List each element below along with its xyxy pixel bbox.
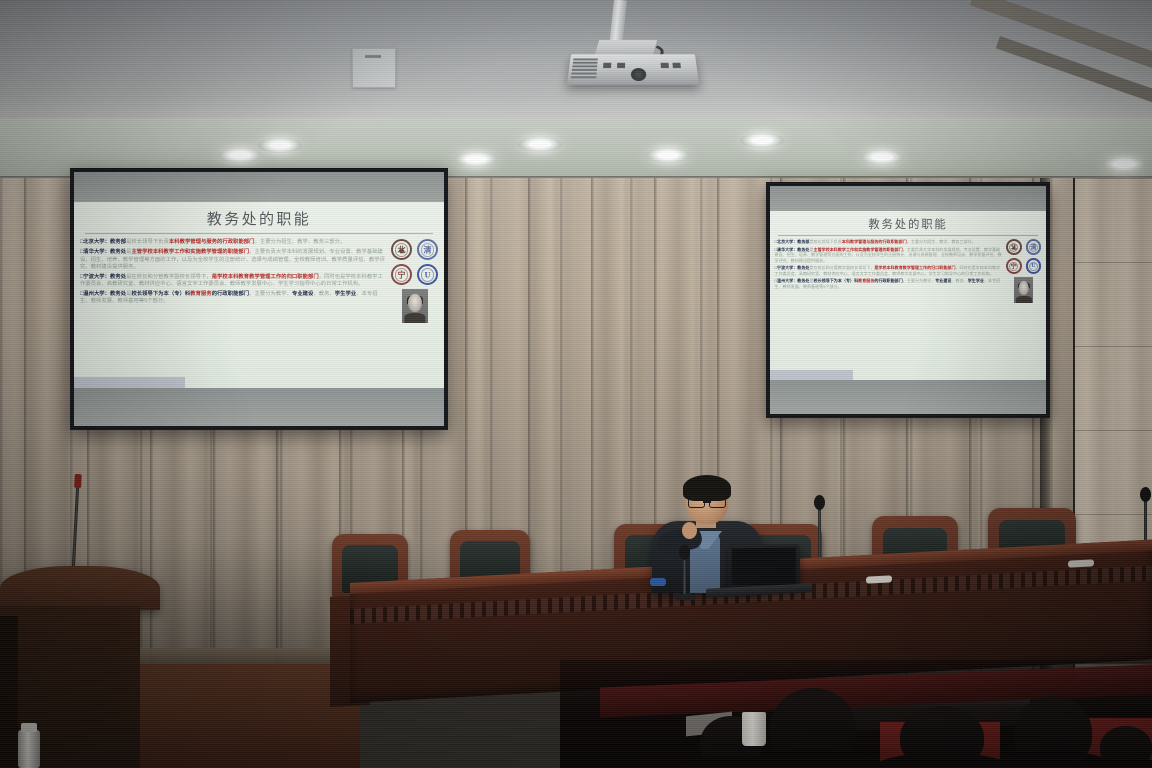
downlight-icon [258,138,302,153]
seal-glyph: 宁 [1011,262,1017,271]
screen-band-bottom [74,388,444,426]
wenzhou-university-seal: U [417,264,438,285]
slide-paragraph: □北京大学：教务部是校长领导下负责本科教学管理与服务的行政职能部门。主要分为招生… [80,239,387,246]
slide-paragraph: □清华大学：教务处是主管学校本科教学工作和实施教学管理的职能部门。主要负责大学本… [775,247,1003,263]
logo-row: 北清 [391,239,438,260]
laptop-screen [732,548,796,586]
seal-glyph: U [1031,263,1035,269]
portrait-photo [1014,277,1034,303]
slide-right: 教务处的职能 □北京大学：教务部是校长领导下负责本科教学管理与服务的行政职能部门… [770,211,1046,380]
slide-paragraph: □温州大学：教务处是校长领导下为本（专）科教育服务的行政职能部门。主要分为教学、… [80,291,387,305]
downlight-icon [1102,157,1146,172]
slide-paragraph: □宁波大学：教务处是在校长和分管教学副校长领导下，是学校本科教育教学管理工作的归… [775,265,1003,276]
logo-row: 宁U [391,264,438,285]
paper-cup [742,712,766,746]
projector-vent-icon [571,58,598,78]
downlight-icon [218,148,262,163]
screen-band-bottom [770,380,1046,414]
slide-left: 教务处的职能 □北京大学：教务部是校长领导下负责本科教学管理与服务的行政职能部门… [74,202,444,387]
ningbo-university-seal: 宁 [1006,258,1022,274]
slide-paragraph: □清华大学：教务处是主管学校本科教学工作和实施教学管理的职能部门。主要负责大学本… [80,249,387,270]
slide-text-column: □北京大学：教务部是校长领导下负责本科教学管理与服务的行政职能部门。主要分为招生… [80,239,387,323]
seal-glyph: 北 [398,244,406,255]
slide-paragraph: □北京大学：教务部是校长领导下负责本科教学管理与服务的行政职能部门。主要分为招生… [775,239,1003,244]
audience-head [1014,696,1092,768]
water-bottle [18,730,40,768]
logo-row: 北清 [1006,239,1042,255]
seal-glyph: 北 [1011,243,1017,252]
slide-paragraph: □温州大学：教务处是校长领导下为本（专）科教育服务的行政职能部门。主要分为教学、… [775,278,1003,289]
slide-title: 教务处的职能 [74,202,444,233]
slide-paragraph: □宁波大学：教务处是在校长和分管教学副校长领导下，是学校本科教育教学管理工作的归… [80,274,387,288]
slide-footer-strip [770,370,853,380]
tsinghua-university-seal: 清 [1026,239,1042,255]
desk-object-blue [650,578,666,586]
handheld-microphone [683,556,686,596]
portrait-body [404,313,425,323]
audience-head [900,706,984,768]
portrait-photo [402,289,428,323]
peking-university-seal: 北 [1006,239,1022,255]
screen-surface: 教务处的职能 □北京大学：教务部是校长领导下负责本科教学管理与服务的行政职能部门… [74,172,444,426]
slide-title: 教务处的职能 [770,211,1046,235]
slide-body: □北京大学：教务部是校长领导下负责本科教学管理与服务的行政职能部门。主要分为招生… [74,234,444,328]
left-projection-screen[interactable]: 教务处的职能 □北京大学：教务部是校长领导下负责本科教学管理与服务的行政职能部门… [70,168,448,430]
projector-lens-icon [631,68,646,81]
right-projection-screen[interactable]: 教务处的职能 □北京大学：教务部是校长领导下负责本科教学管理与服务的行政职能部门… [766,182,1050,418]
projector-port [672,63,680,68]
lecture-hall-scene: 教务处的职能 □北京大学：教务部是校长领导下负责本科教学管理与服务的行政职能部门… [0,0,1152,768]
portrait-face [1018,281,1029,295]
screen-surface: 教务处的职能 □北京大学：教务部是校长领导下负责本科教学管理与服务的行政职能部门… [770,186,1046,414]
slide-footer-strip [74,377,185,388]
microphone-base [674,594,696,600]
projector-port [617,63,625,68]
slide-logo-column: 北清 宁U [391,239,438,323]
ningbo-university-seal: 宁 [391,264,412,285]
downlight-icon [518,137,562,152]
portrait-body [1015,296,1031,304]
seal-glyph: 清 [424,244,432,255]
screen-band-top [74,172,444,202]
slide-body: □北京大学：教务部是校长领导下负责本科教学管理与服务的行政职能部门。主要分为招生… [770,236,1046,307]
ceiling-projector [567,54,699,85]
peking-university-seal: 北 [391,239,412,260]
seal-glyph: 宁 [398,269,406,280]
slide-text-column: □北京大学：教务部是校长领导下负责本科教学管理与服务的行政职能部门。主要分为招生… [775,239,1003,303]
desk-nameplate [1068,559,1094,567]
downlight-icon [740,133,784,148]
audience-head [1100,726,1152,768]
screen-band-top [770,186,1046,211]
projector-port [661,63,669,68]
lectern-top [0,566,160,610]
wenzhou-university-seal: U [1026,258,1042,274]
eyeglasses-icon [688,497,726,506]
logo-row: 宁U [1006,258,1042,274]
downlight-icon [646,148,690,163]
seal-glyph: U [425,270,431,279]
presenter-hand [682,522,697,539]
downlight-icon [454,152,498,167]
seal-glyph: 清 [1030,243,1036,252]
portrait-face [407,294,421,312]
ceiling-panel-icon [352,48,396,88]
presenter-laptop[interactable] [728,544,800,589]
projector-port [603,63,611,68]
downlight-icon [860,150,904,165]
desk-nameplate [866,575,892,583]
slide-logo-column: 北清 宁U [1006,239,1042,303]
lectern-side [0,616,18,768]
tsinghua-university-seal: 清 [417,239,438,260]
audience-head [770,688,856,768]
